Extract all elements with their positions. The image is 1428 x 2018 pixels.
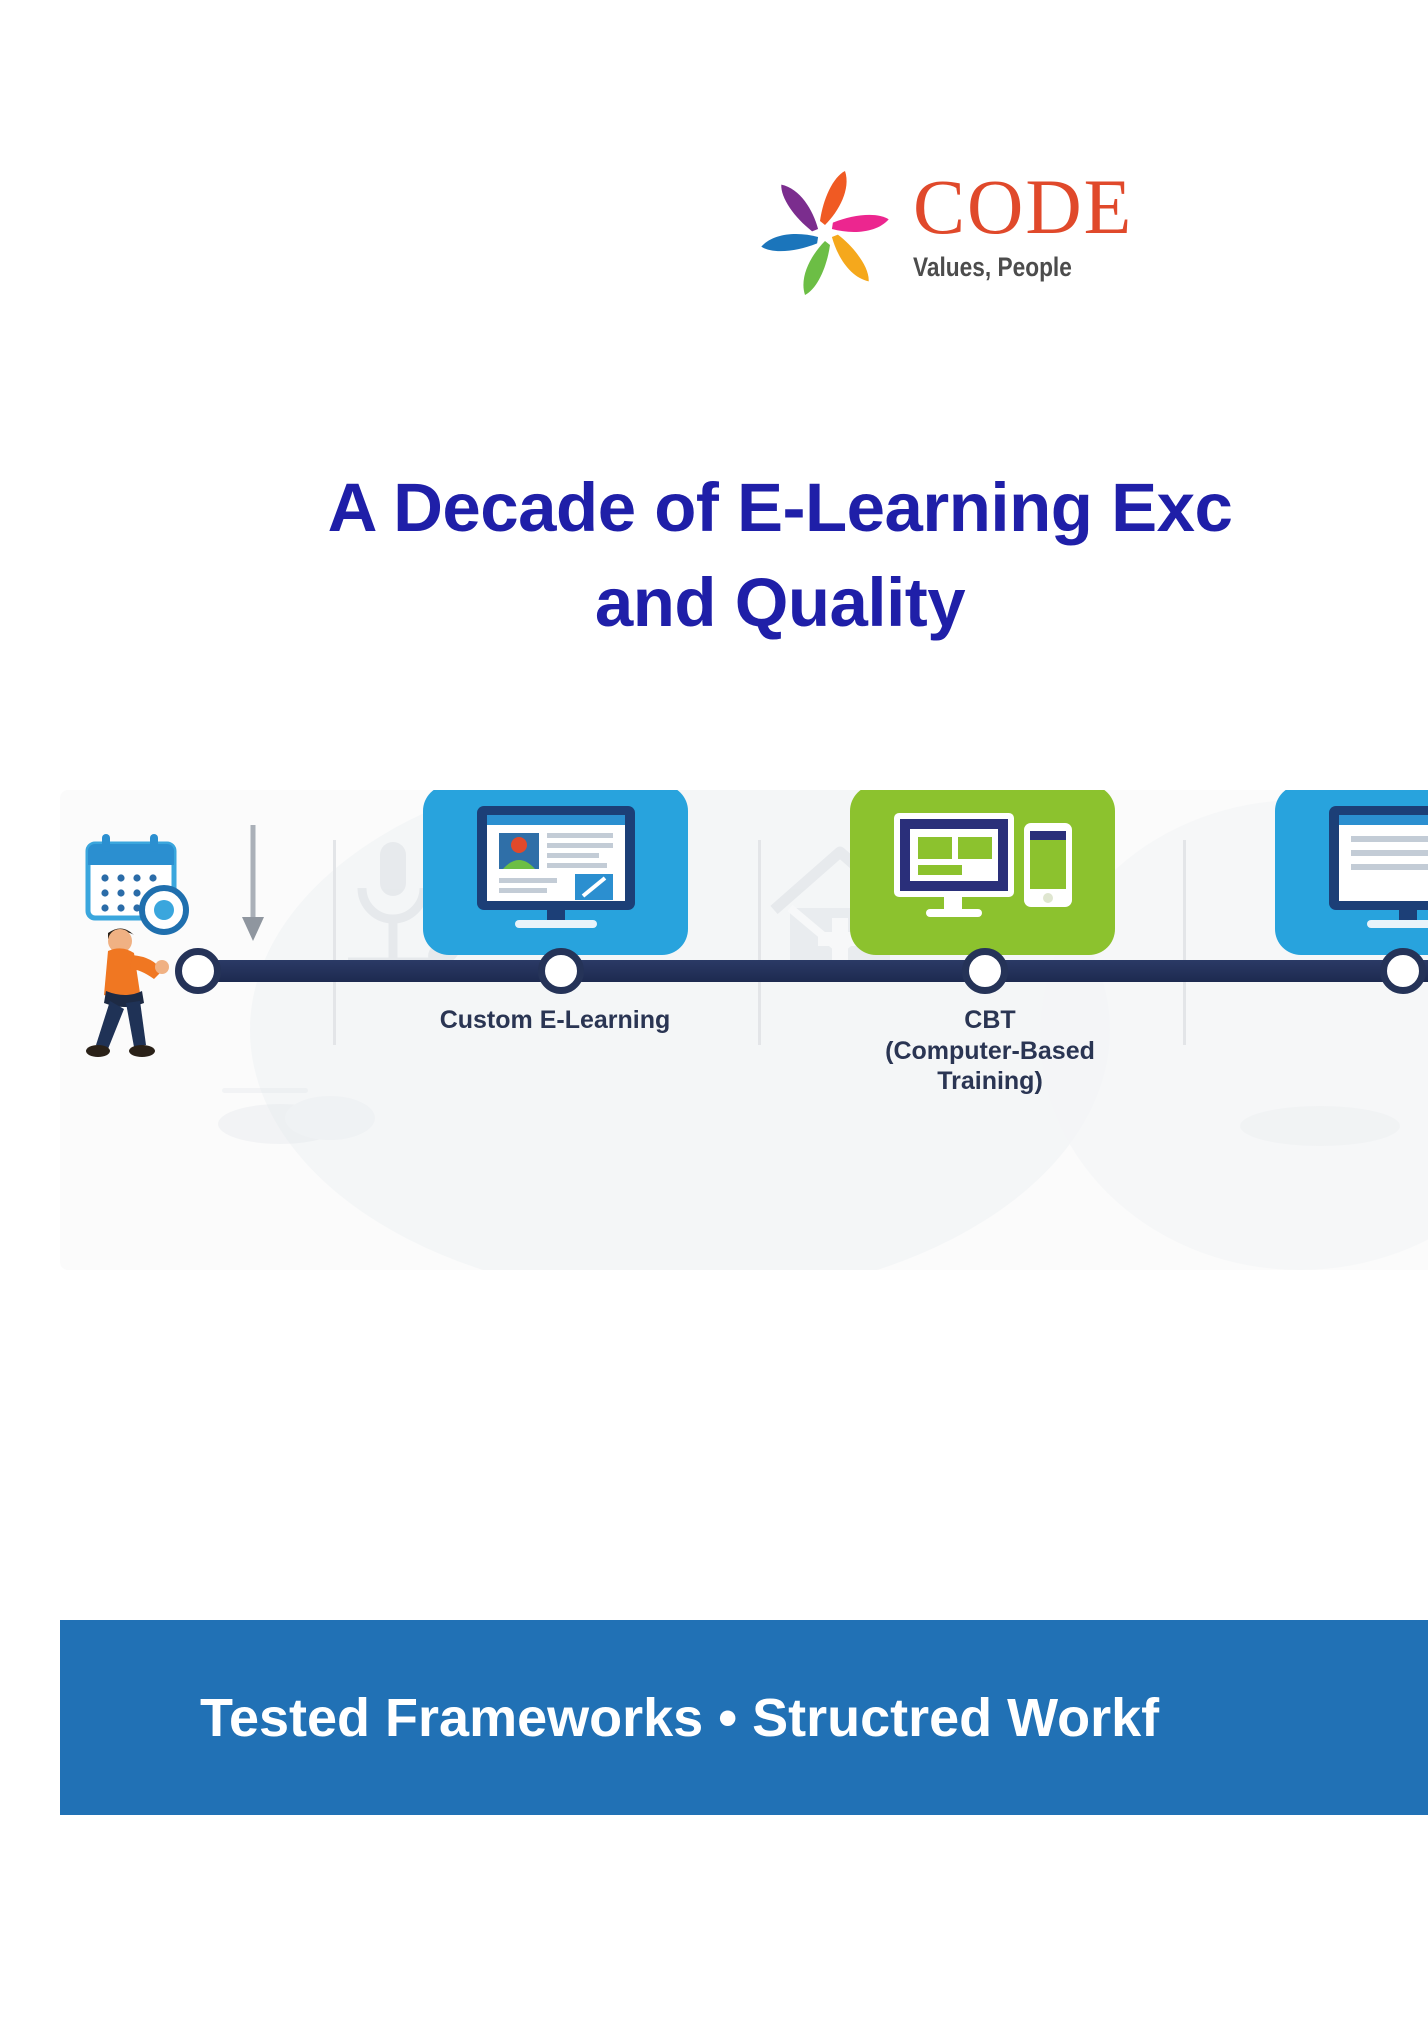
slide-title-line-2: and Quality (0, 555, 1428, 650)
timeline-graphic: Custom E-Learning CBT (Computer-Based Tr… (60, 790, 1428, 1270)
pinwheel-flower-logo-icon (750, 155, 900, 305)
cloud-shape-icon (1230, 1090, 1410, 1150)
slide-title: A Decade of E-Learning Exc and Quality (0, 460, 1428, 650)
slide-title-line-1: A Decade of E-Learning Exc (0, 460, 1428, 555)
section-divider (758, 840, 761, 1045)
timeline-node-cbt[interactable] (962, 948, 1008, 994)
timeline-rail (190, 960, 1428, 982)
timeline-label-text: CBT (964, 1006, 1015, 1034)
timeline-label-custom-elearning: Custom E-Learning (405, 1005, 705, 1036)
brand-logo: CODE Values, People (745, 150, 1428, 310)
bottom-banner: Tested Frameworks • Structred Workf (60, 1620, 1428, 1815)
brand-name: CODE (913, 168, 1133, 246)
milestone-card-next[interactable] (1275, 790, 1428, 955)
timeline-label-sub1: (Computer-Based (840, 1036, 1140, 1067)
milestone-card-custom-elearning[interactable] (423, 790, 688, 955)
person-pushing-node-icon (74, 915, 204, 1080)
desktop-monitor-course-icon (463, 800, 648, 940)
section-divider (1183, 840, 1186, 1045)
slide-canvas: CODE Values, People A Decade of E-Learni… (0, 0, 1428, 2018)
arrow-down-icon (238, 825, 268, 950)
cloud-shape-icon (210, 1080, 420, 1150)
section-divider (333, 840, 336, 1045)
timeline-node-next[interactable] (1380, 948, 1426, 994)
milestone-card-cbt[interactable] (850, 790, 1115, 955)
timeline-label-cbt: CBT (Computer-Based Training) (840, 1005, 1140, 1097)
bottom-banner-text: Tested Frameworks • Structred Workf (200, 1687, 1159, 1749)
monitor-and-mobile-icon (888, 805, 1078, 935)
brand-tagline: Values, People (913, 252, 1098, 283)
timeline-label-sub2: Training) (840, 1066, 1140, 1097)
brand-text-block: CODE Values, People (913, 168, 1133, 283)
desktop-monitor-course-icon (1315, 800, 1428, 940)
timeline-node-custom-elearning[interactable] (538, 948, 584, 994)
timeline-label-text: Custom E-Learning (440, 1006, 671, 1034)
